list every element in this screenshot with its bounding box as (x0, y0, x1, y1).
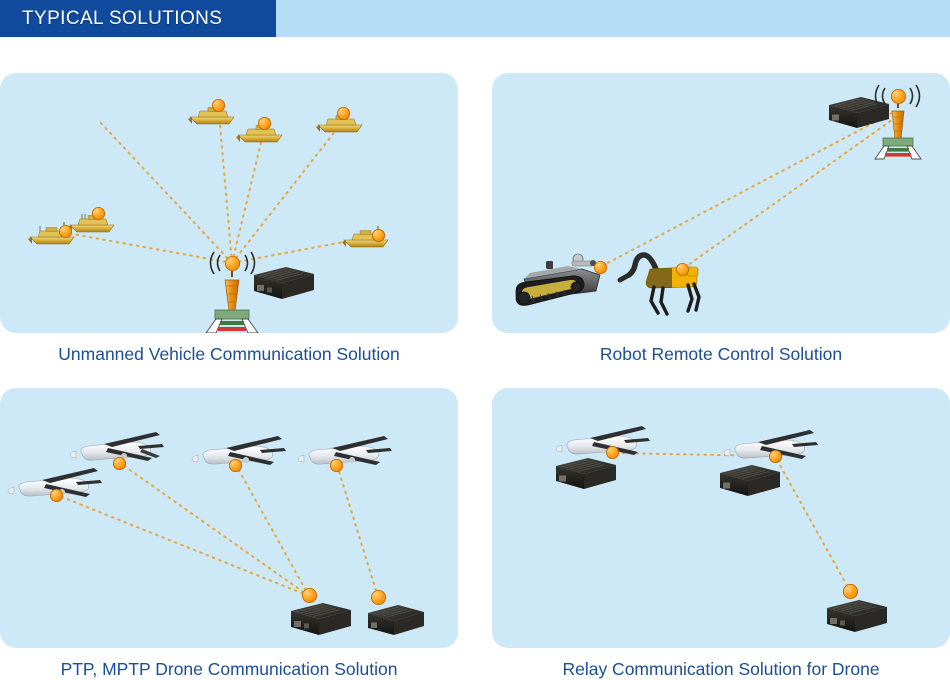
solution-caption: PTP, MPTP Drone Communication Solution (0, 659, 458, 680)
header-tab: TYPICAL SOLUTIONS (0, 0, 276, 37)
page-title: TYPICAL SOLUTIONS (0, 8, 222, 30)
quadruped-robot-icon (620, 255, 699, 314)
radio-box-icon (829, 97, 889, 128)
scene-svg-robot-remote-control (492, 73, 950, 333)
illustration-panel-unmanned-vehicle (0, 73, 458, 333)
tracked-robot-icon (516, 254, 600, 305)
radio-box-icon (254, 267, 314, 299)
node-tower-hub (225, 256, 240, 271)
solution-caption: Robot Remote Control Solution (492, 344, 950, 365)
scene-ptp-mptp-drone (0, 388, 458, 648)
node-drone-3 (229, 459, 242, 472)
illustration-panel-ptp-mptp-drone (0, 388, 458, 648)
solution-caption: Unmanned Vehicle Communication Solution (0, 344, 458, 365)
node-tower-hub (891, 89, 906, 104)
fixed-wing-drone-icon (556, 426, 650, 455)
solution-caption: Relay Communication Solution for Drone (492, 659, 950, 680)
scene-svg-unmanned-vehicle (0, 73, 458, 333)
link-lines (67, 113, 359, 263)
node-quadruped-robot (676, 263, 689, 276)
node-drone-2 (50, 489, 63, 502)
illustration-panel-robot-remote-control (492, 73, 950, 333)
unmanned-boat-group (28, 102, 388, 247)
radio-box-icon (368, 605, 424, 635)
scene-unmanned-vehicle (0, 73, 458, 333)
radio-box-icon (556, 458, 616, 489)
illustration-panel-relay-drone (492, 388, 950, 648)
radio-box-icon (827, 600, 887, 632)
node-drone-a (606, 446, 619, 459)
node-boat-b (212, 99, 225, 112)
solution-card-robot-remote-control[interactable]: Robot Remote Control Solution (492, 73, 950, 365)
node-tracked-robot (594, 261, 607, 274)
solution-card-unmanned-vehicle[interactable]: Unmanned Vehicle Communication Solution (0, 73, 458, 365)
node-boat-a (92, 207, 105, 220)
scene-relay-drone (492, 388, 950, 648)
node-boat-d (337, 107, 350, 120)
node-ground-station (843, 584, 858, 599)
scene-svg-ptp-mptp-drone (0, 388, 458, 648)
radio-box-icon (291, 603, 351, 635)
node-drone-4 (330, 459, 343, 472)
node-boat-e (59, 225, 72, 238)
link-lines (57, 463, 378, 597)
antenna-tower-icon (206, 269, 258, 333)
header-band: TYPICAL SOLUTIONS (0, 0, 950, 37)
scene-robot-remote-control (492, 73, 950, 333)
node-drone-b (769, 450, 782, 463)
fixed-wing-drone-icon (298, 436, 392, 465)
scene-svg-relay-drone (492, 388, 950, 648)
link-lines (602, 113, 896, 268)
solutions-grid: Unmanned Vehicle Communication Solution (0, 47, 950, 678)
node-ground-station-2 (371, 590, 386, 605)
node-ground-station-1 (302, 588, 317, 603)
solution-card-ptp-mptp-drone[interactable]: PTP, MPTP Drone Communication Solution (0, 388, 458, 680)
node-drone-1 (113, 457, 126, 470)
node-boat-f (372, 229, 385, 242)
radio-box-icon (720, 465, 780, 496)
node-boat-c (258, 117, 271, 130)
solution-card-relay-drone[interactable]: Relay Communication Solution for Drone (492, 388, 950, 680)
